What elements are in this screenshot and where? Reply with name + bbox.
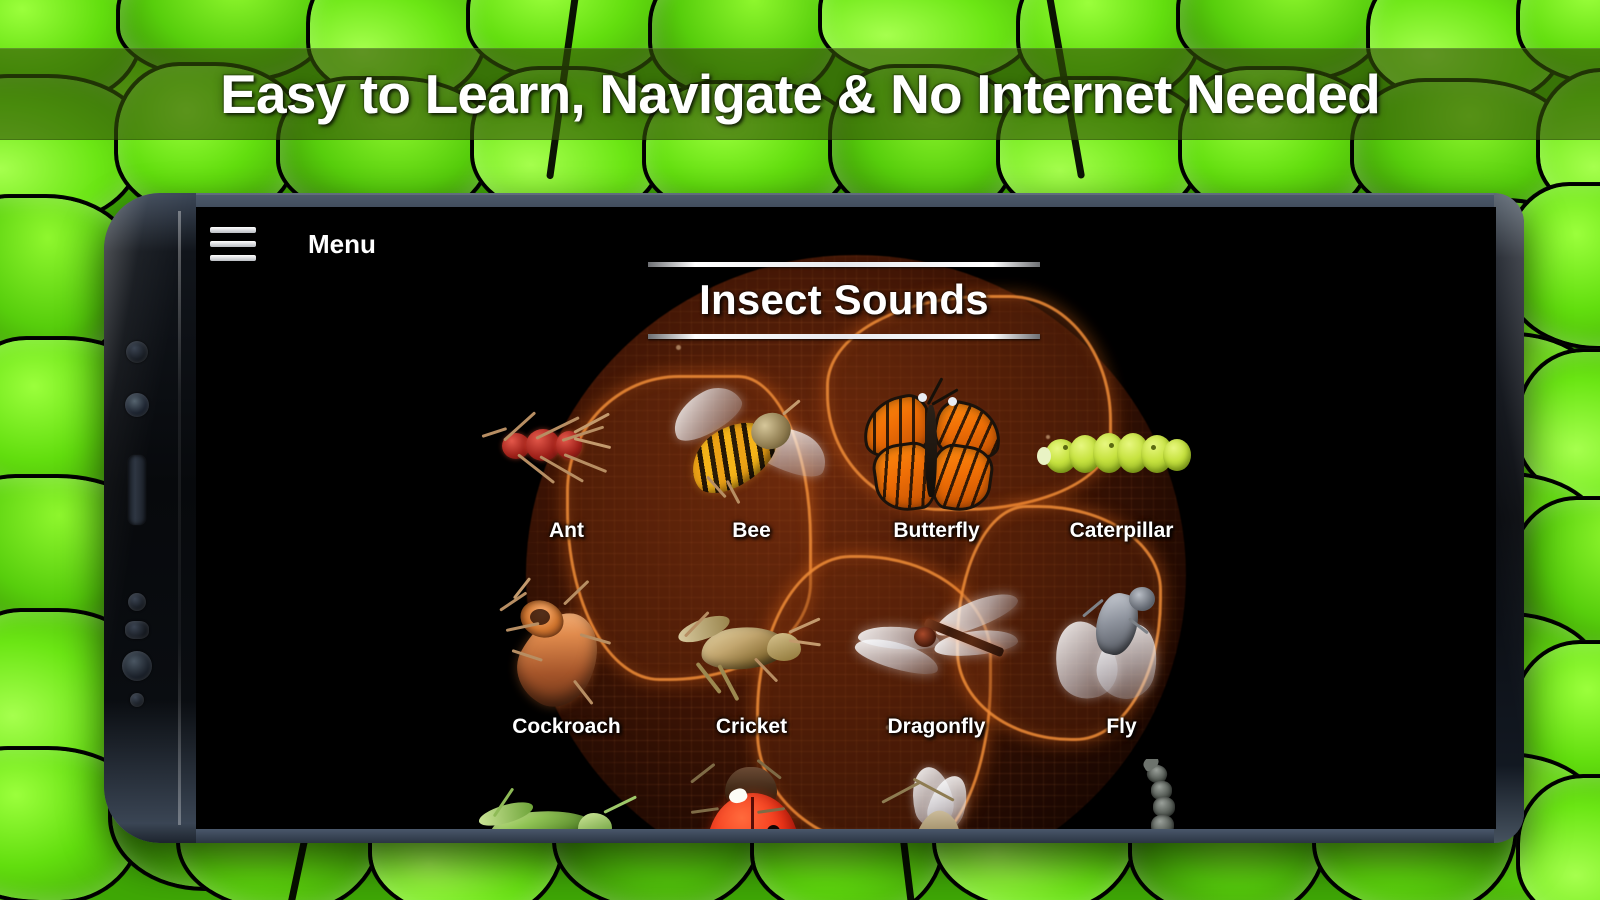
butterfly-icon <box>848 391 1026 515</box>
app-screen: Menu Insect Sounds <box>196 207 1496 829</box>
insect-tile-ant[interactable]: Ant <box>474 375 659 543</box>
insect-label: Fly <box>1106 715 1136 739</box>
menu-label[interactable]: Menu <box>308 229 376 260</box>
nav-button-home[interactable] <box>125 621 149 639</box>
insect-label: Butterfly <box>893 519 979 543</box>
ant-icon <box>478 391 656 515</box>
scorpion-icon <box>1077 765 1214 829</box>
insect-tile-caterpillar[interactable]: Caterpillar <box>1029 375 1214 543</box>
insect-tile-butterfly[interactable]: Butterfly <box>844 375 1029 543</box>
grasshopper-icon <box>474 781 652 829</box>
insect-label: Ant <box>549 519 584 543</box>
insect-grid: Ant Bee <box>474 375 1214 739</box>
earpiece-speaker <box>128 455 146 525</box>
insect-tile-grasshopper[interactable] <box>474 759 659 829</box>
page-title-block: Insect Sounds <box>594 262 1094 339</box>
insect-tile-mosquito[interactable] <box>844 759 1029 829</box>
dragonfly-icon <box>848 587 1026 711</box>
caterpillar-icon <box>1033 391 1211 515</box>
insect-tile-scorpion[interactable] <box>1029 759 1214 829</box>
insect-label: Bee <box>732 519 771 543</box>
front-camera-icon <box>126 341 148 363</box>
insect-tile-ladybug[interactable] <box>659 759 844 829</box>
ladybug-icon <box>677 763 855 829</box>
microphone-hole <box>130 693 144 707</box>
proximity-sensor-icon <box>125 393 149 417</box>
insect-label: Dragonfly <box>887 715 985 739</box>
cockroach-icon <box>478 587 656 711</box>
cricket-icon <box>663 587 841 711</box>
insect-grid-row-clipped <box>474 759 1214 829</box>
insect-label: Cockroach <box>512 715 621 739</box>
screenshot-canvas: Easy to Learn, Navigate & No Internet Ne… <box>0 0 1600 900</box>
phone-bottom-bezel <box>1494 193 1524 843</box>
hamburger-bar <box>210 227 256 233</box>
fly-icon <box>1033 587 1211 711</box>
hamburger-bar <box>210 255 256 261</box>
insect-tile-bee[interactable]: Bee <box>659 375 844 543</box>
insect-label: Caterpillar <box>1070 519 1174 543</box>
nav-button-back[interactable] <box>122 651 152 681</box>
insect-tile-dragonfly[interactable]: Dragonfly <box>844 571 1029 739</box>
insect-tile-cockroach[interactable]: Cockroach <box>474 571 659 739</box>
hamburger-bar <box>210 241 256 247</box>
nav-button-recents[interactable] <box>128 593 146 611</box>
promo-banner-text: Easy to Learn, Navigate & No Internet Ne… <box>220 62 1380 126</box>
insect-label: Cricket <box>716 715 787 739</box>
promo-banner: Easy to Learn, Navigate & No Internet Ne… <box>0 48 1600 140</box>
title-rule-bottom <box>648 334 1040 339</box>
insect-tile-cricket[interactable]: Cricket <box>659 571 844 739</box>
phone-top-bezel <box>104 193 196 843</box>
insect-tile-fly[interactable]: Fly <box>1029 571 1214 739</box>
page-title: Insect Sounds <box>594 267 1094 334</box>
mosquito-icon <box>858 765 1036 829</box>
hamburger-icon[interactable] <box>210 227 256 261</box>
bee-icon <box>663 391 841 515</box>
globe-speck <box>676 345 681 350</box>
phone-device-mockup: Menu Insect Sounds <box>104 193 1524 843</box>
